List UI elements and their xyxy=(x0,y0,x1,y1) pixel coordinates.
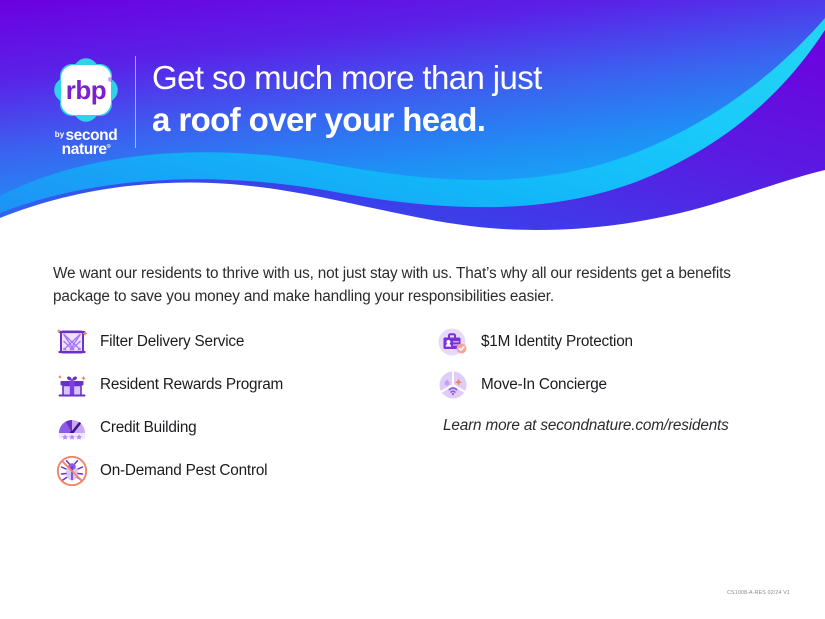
rbp-registered-mark: ® xyxy=(108,77,113,84)
intro-paragraph: We want our residents to thrive with us,… xyxy=(53,263,753,308)
credit-score-gauge-icon xyxy=(53,409,91,447)
benefit-label: Filter Delivery Service xyxy=(100,333,244,351)
no-pest-icon xyxy=(53,452,91,490)
benefits-right-column: $1M Identity Protection xyxy=(434,320,784,406)
hero-banner: rbp ® bysecond nature® Get so much more … xyxy=(0,0,825,232)
headline-line-1: Get so much more than just xyxy=(152,57,542,99)
benefit-item-pest-control: On-Demand Pest Control xyxy=(53,449,413,492)
benefits-left-column: Filter Delivery Service Re xyxy=(53,320,413,492)
learn-more-text: Learn more at secondnature.com/residents xyxy=(443,417,729,435)
hero-headline: Get so much more than just a roof over y… xyxy=(152,57,542,141)
id-badge-check-icon xyxy=(434,323,472,361)
wordmark-by: by xyxy=(55,131,65,139)
benefit-label: Credit Building xyxy=(100,419,196,437)
second-nature-wordmark: bysecond nature® xyxy=(40,128,132,158)
rbp-logo-text: rbp xyxy=(66,75,106,105)
benefit-item-move-in-concierge: Move-In Concierge xyxy=(434,363,784,406)
benefit-item-credit-building: Credit Building xyxy=(53,406,413,449)
benefit-label: Resident Rewards Program xyxy=(100,376,283,394)
gift-box-icon xyxy=(53,366,91,404)
utilities-setup-icon xyxy=(434,366,472,404)
brand-logo-lockup: rbp ® bysecond nature® xyxy=(40,52,132,156)
benefit-item-filter-delivery: Filter Delivery Service xyxy=(53,320,413,363)
logo-headline-divider xyxy=(135,56,136,148)
rbp-star-logo-icon: rbp ® xyxy=(48,52,124,128)
benefit-item-resident-rewards: Resident Rewards Program xyxy=(53,363,413,406)
wordmark-nature: nature® xyxy=(40,142,132,158)
air-filter-icon xyxy=(53,323,91,361)
flyer-page: rbp ® bysecond nature® Get so much more … xyxy=(0,0,825,619)
headline-line-2: a roof over your head. xyxy=(152,99,542,141)
document-code: CS1008-A-RES 02/24 V1 xyxy=(727,590,790,596)
benefit-label: $1M Identity Protection xyxy=(481,333,633,351)
benefit-label: On-Demand Pest Control xyxy=(100,462,267,480)
benefit-item-identity-protection: $1M Identity Protection xyxy=(434,320,784,363)
benefit-label: Move-In Concierge xyxy=(481,376,607,394)
